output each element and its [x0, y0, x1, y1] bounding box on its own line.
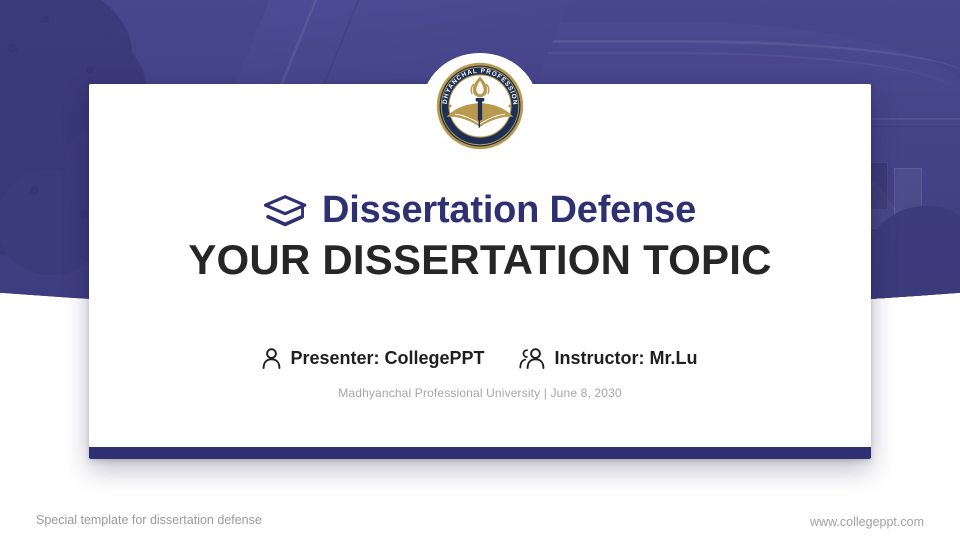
university-seal-logo: MADHYANCHAL PROFESSIONAL UNIVERSITY	[422, 53, 538, 159]
card-accent-bar	[89, 447, 871, 459]
footer-left-text: Special template for dissertation defens…	[36, 513, 262, 527]
footer-right-url[interactable]: www.collegeppt.com	[810, 515, 924, 529]
subject-title: Dissertation Defense	[322, 191, 696, 229]
subject-heading-row: Dissertation Defense	[89, 191, 871, 229]
people-group-icon	[519, 348, 546, 369]
person-icon	[262, 348, 281, 369]
graduation-cap-icon	[264, 194, 308, 228]
instructor-label: Instructor: Mr.Lu	[555, 348, 698, 369]
instructor-block: Instructor: Mr.Lu	[519, 348, 698, 369]
dissertation-topic-title: YOUR DISSERTATION TOPIC	[89, 235, 871, 285]
university-date-line: Madhyanchal Professional University | Ju…	[89, 386, 871, 400]
presenter-block: Presenter: CollegePPT	[262, 348, 484, 369]
presentation-slide: Dissertation Defense YOUR DISSERTATION T…	[0, 0, 960, 540]
people-row: Presenter: CollegePPT Instructor: Mr.Lu	[89, 348, 871, 369]
seal-graphic: MADHYANCHAL PROFESSIONAL UNIVERSITY	[435, 61, 525, 151]
presenter-label: Presenter: CollegePPT	[290, 348, 484, 369]
